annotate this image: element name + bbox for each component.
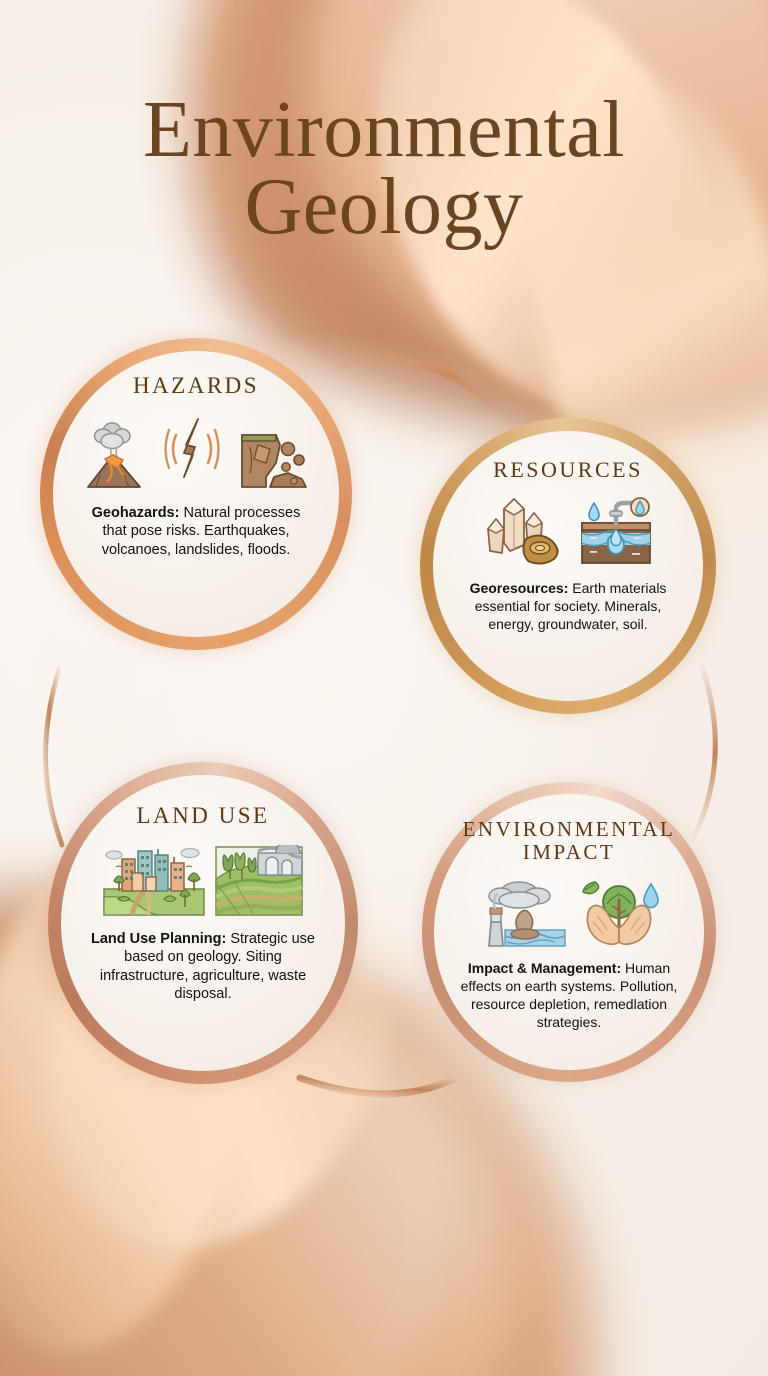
node-impact-body: Impact & Management: Human effects on ea… (456, 960, 682, 1032)
node-impact-lead: Impact & Management: (468, 960, 621, 976)
landslide-icon (236, 415, 312, 491)
node-impact-icons (475, 874, 663, 948)
crystal-minerals-icon (480, 495, 568, 567)
node-hazards-title: HAZARDS (133, 374, 259, 399)
volcano-icon (80, 415, 154, 491)
node-hazards[interactable]: HAZARDS (40, 338, 352, 650)
node-resources-title: RESOURCES (493, 458, 643, 482)
hands-holding-tree-icon (575, 876, 663, 948)
cityscape-icon (102, 845, 206, 917)
earthquake-crack-icon (162, 415, 228, 491)
node-hazards-body: Geohazards: Natural processes that pose … (88, 504, 304, 560)
node-impact[interactable]: ENVIRONMENTAL IMPACT (422, 782, 716, 1082)
node-resources-icons (480, 495, 656, 567)
node-landuse[interactable]: LAND USE (48, 762, 358, 1084)
farmland-icon (214, 845, 304, 917)
node-resources-body: Georesources: Earth materials essential … (465, 580, 671, 634)
page-title: Environmental Geology (0, 92, 768, 246)
infographic-canvas: Environmental Geology (0, 0, 768, 1376)
factory-pollution-icon (475, 876, 567, 948)
title-line-1: Environmental (143, 86, 625, 174)
node-landuse-title: LAND USE (136, 804, 269, 829)
node-hazards-icons (80, 413, 312, 491)
node-impact-title: ENVIRONMENTAL IMPACT (446, 818, 692, 863)
node-hazards-lead: Geohazards: (92, 505, 180, 521)
node-landuse-lead: Land Use Planning: (91, 931, 226, 947)
groundwater-well-icon (576, 495, 656, 567)
node-resources[interactable]: RESOURCES (420, 418, 716, 714)
title-line-2: Geology (0, 169, 768, 246)
node-resources-lead: Georesources: (470, 580, 569, 596)
node-landuse-icons (102, 843, 304, 917)
node-landuse-body: Land Use Planning: Strategic use based o… (89, 930, 317, 1004)
